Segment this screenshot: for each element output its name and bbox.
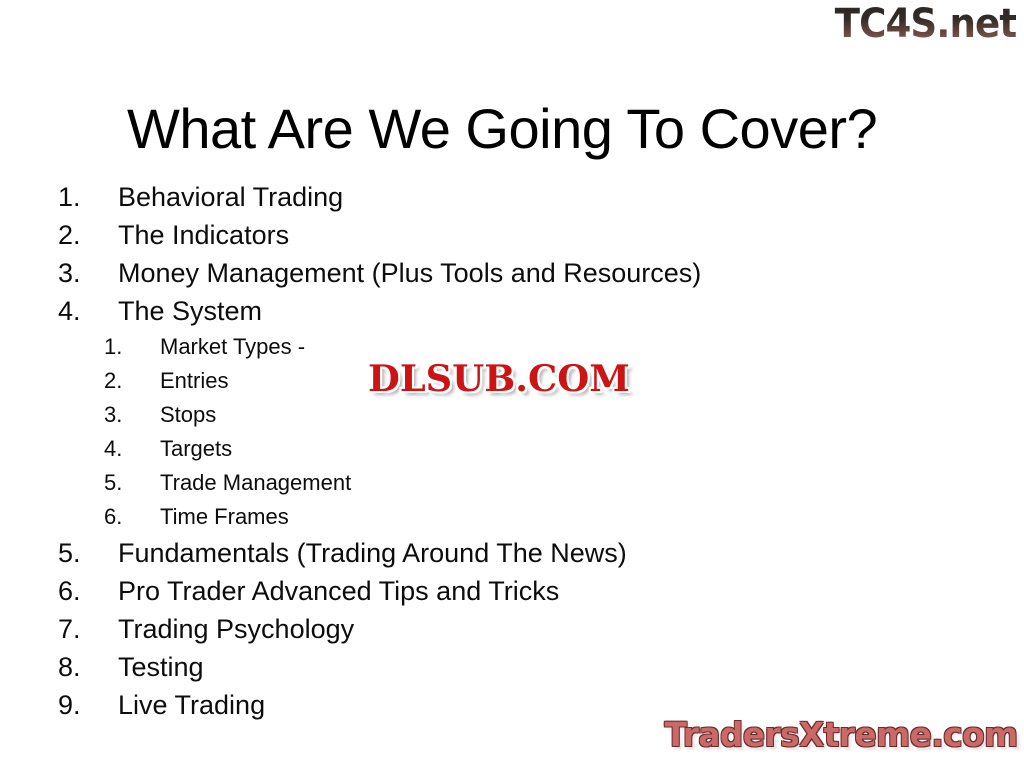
list-item-number: 1. [104,330,148,364]
list-item: 5.Trade Management [0,466,1024,500]
list-item-label: The System [118,292,262,330]
list-item-label: Time Frames [160,500,289,534]
list-item-number: 3. [104,398,148,432]
list-item: 6.Time Frames [0,500,1024,534]
list-item: 2.The Indicators [0,216,1024,254]
list-item-number: 4. [104,432,148,466]
list-item-number: 5. [58,534,104,572]
list-item-number: 8. [58,648,104,686]
footer-brand-tradersxtreme: TradersXtreme.com [665,716,1018,754]
list-item-label: Behavioral Trading [118,178,343,216]
list-item-label: Money Management (Plus Tools and Resourc… [118,254,701,292]
slide-canvas: TC4S.net TC4S.net What Are We Going To C… [0,0,1024,768]
list-item: 6.Pro Trader Advanced Tips and Tricks [0,572,1024,610]
list-item: 4.Targets [0,432,1024,466]
list-item: 4.The System [0,292,1024,330]
list-item-label: Market Types - [160,330,305,364]
list-item-number: 2. [58,216,104,254]
list-item-number: 7. [58,610,104,648]
list-item: 3.Money Management (Plus Tools and Resou… [0,254,1024,292]
list-item-label: Fundamentals (Trading Around The News) [118,534,627,572]
list-item: 8.Testing [0,648,1024,686]
list-item-number: 1. [58,178,104,216]
list-item-number: 4. [58,292,104,330]
watermark-dlsub: DLSUB.COM [368,358,630,400]
list-item-label: Pro Trader Advanced Tips and Tricks [118,572,559,610]
list-item-number: 6. [58,572,104,610]
outline-list: 1.Behavioral Trading2.The Indicators3.Mo… [0,178,1024,724]
list-item: 5.Fundamentals (Trading Around The News) [0,534,1024,572]
list-item-number: 2. [104,364,148,398]
list-item: 3.Stops [0,398,1024,432]
list-item-number: 9. [58,686,104,724]
list-item-label: The Indicators [118,216,289,254]
list-item-label: Live Trading [118,686,265,724]
list-item-number: 6. [104,500,148,534]
page-title: What Are We Going To Cover? [127,96,877,162]
list-item-label: Trading Psychology [118,610,354,648]
list-item: 1.Behavioral Trading [0,178,1024,216]
list-item: 7.Trading Psychology [0,610,1024,648]
list-item-label: Testing [118,648,204,686]
list-item-number: 3. [58,254,104,292]
brand-logo-tc4s: TC4S.net [834,2,1016,46]
list-item-label: Trade Management [160,466,351,500]
list-item-label: Stops [160,398,216,432]
list-item-label: Targets [160,432,232,466]
list-item-number: 5. [104,466,148,500]
list-item-label: Entries [160,364,228,398]
